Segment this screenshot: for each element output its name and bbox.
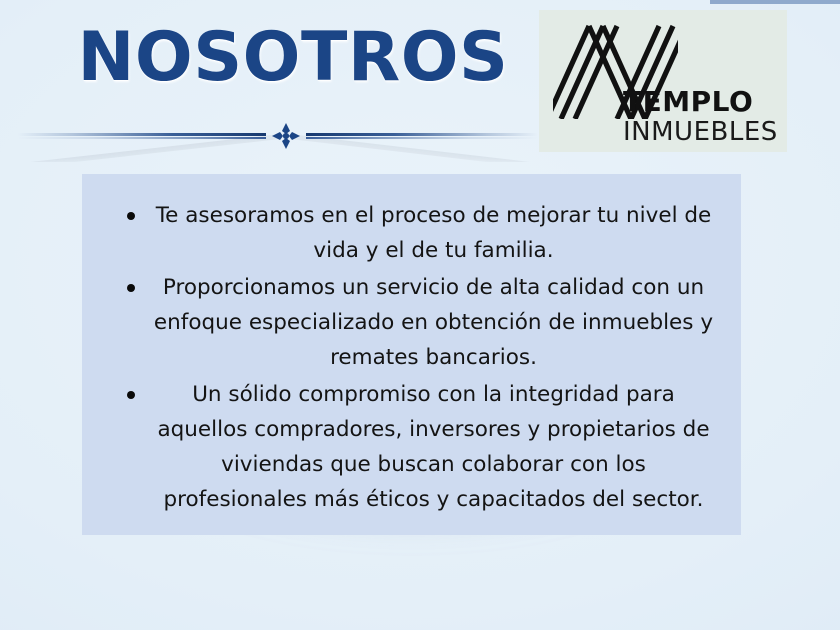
bullet-dot-icon bbox=[127, 284, 135, 292]
list-item: Proporcionamos un servicio de alta calid… bbox=[82, 270, 741, 375]
diamond-fleuron-ornament-icon bbox=[266, 120, 306, 152]
list-item: Te asesoramos en el proceso de mejorar t… bbox=[82, 198, 741, 268]
top-accent-strip bbox=[710, 0, 840, 4]
divider-line-right-upper bbox=[306, 133, 538, 136]
content-card: Te asesoramos en el proceso de mejorar t… bbox=[82, 174, 741, 535]
divider-line-left-upper bbox=[18, 133, 266, 136]
brand-word-templo: TEMPLO bbox=[623, 88, 783, 116]
slide-canvas: NOSOTROS bbox=[0, 0, 840, 630]
bullet-list: Te asesoramos en el proceso de mejorar t… bbox=[82, 198, 741, 519]
divider-line-left-lower bbox=[18, 137, 266, 139]
list-item: Un sólido compromiso con la integridad p… bbox=[82, 377, 741, 517]
brand-logo-panel: TEMPLO INMUEBLES bbox=[539, 10, 787, 152]
bullet-dot-icon bbox=[127, 212, 135, 220]
bullet-dot-icon bbox=[127, 391, 135, 399]
page-title: NOSOTROS bbox=[68, 24, 518, 92]
list-item-text: Proporcionamos un servicio de alta calid… bbox=[154, 275, 713, 370]
list-item-text: Un sólido compromiso con la integridad p… bbox=[157, 382, 709, 512]
brand-wordmark: TEMPLO INMUEBLES bbox=[623, 88, 783, 145]
divider-line-right-lower bbox=[306, 137, 538, 139]
brand-word-inmuebles: INMUEBLES bbox=[623, 119, 783, 145]
title-divider bbox=[18, 118, 538, 162]
list-item-text: Te asesoramos en el proceso de mejorar t… bbox=[156, 203, 712, 263]
